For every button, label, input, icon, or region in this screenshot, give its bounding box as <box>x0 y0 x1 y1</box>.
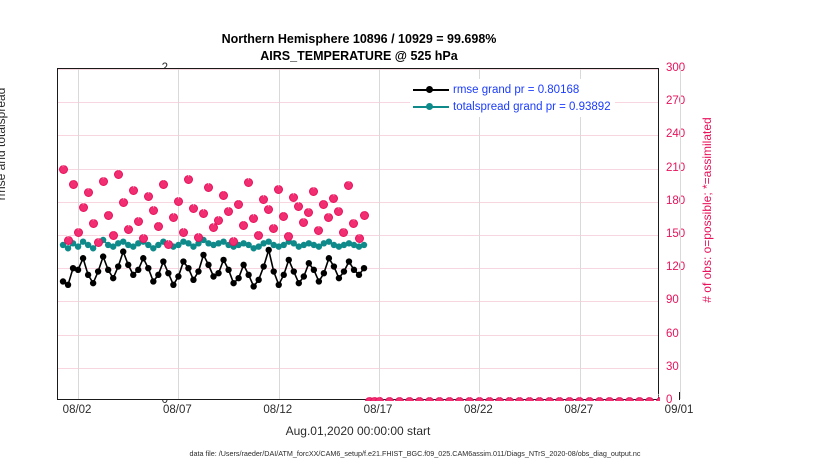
series-point <box>255 277 261 283</box>
obs-count-marker: * <box>585 397 594 402</box>
series-point <box>65 245 71 251</box>
legend: rmse grand pr = 0.80168 totalspread gran… <box>410 79 615 117</box>
obs-count-marker: * <box>229 237 238 246</box>
series-point <box>75 267 81 273</box>
obs-count-marker: * <box>174 197 183 206</box>
obs-count-marker: * <box>314 226 323 235</box>
obs-count-marker: * <box>465 397 474 402</box>
obs-count-marker: * <box>254 231 263 240</box>
obs-count-marker: * <box>194 233 203 242</box>
series-point <box>291 268 297 274</box>
obs-count-marker: * <box>104 211 113 220</box>
legend-swatch-rmse <box>413 84 449 96</box>
obs-count-marker: * <box>555 397 564 402</box>
obs-count-marker: * <box>239 221 248 230</box>
obs-count-marker: * <box>99 177 108 186</box>
series-point <box>155 272 161 278</box>
x-axis-tick-label: 08/07 <box>163 404 192 416</box>
obs-count-marker: * <box>535 397 544 402</box>
series-point <box>215 270 221 276</box>
obs-count-marker: * <box>169 213 178 222</box>
obs-count-marker: * <box>64 236 73 245</box>
obs-count-marker: * <box>405 397 414 402</box>
y-axis-right-tick-label: 300 <box>666 62 685 74</box>
obs-count-marker: * <box>355 234 364 243</box>
series-canvas: ****************************************… <box>58 69 660 401</box>
obs-count-marker: * <box>635 397 644 402</box>
series-point <box>316 278 322 284</box>
obs-count-marker: * <box>435 397 444 402</box>
obs-count-marker: * <box>545 397 554 402</box>
obs-count-marker: * <box>515 397 524 402</box>
obs-count-marker: * <box>154 222 163 231</box>
obs-count-marker: * <box>495 397 504 402</box>
obs-count-marker: * <box>284 232 293 241</box>
x-axis-tick-label: 08/02 <box>63 404 92 416</box>
series-point <box>195 268 201 274</box>
obs-count-marker: * <box>79 203 88 212</box>
series-point <box>311 267 317 273</box>
obs-count-marker: * <box>204 183 213 192</box>
obs-count-marker: * <box>455 397 464 402</box>
obs-count-marker: * <box>339 228 348 237</box>
x-axis-tick-label: 08/17 <box>364 404 393 416</box>
legend-label-totalspread: totalspread grand pr = 0.93892 <box>453 101 611 113</box>
obs-count-marker: * <box>334 207 343 216</box>
obs-count-marker: * <box>224 207 233 216</box>
series-point <box>281 272 287 278</box>
series-point <box>336 275 342 281</box>
gridline-vertical <box>680 69 681 399</box>
series-point <box>180 258 186 264</box>
obs-count-marker: * <box>656 397 661 402</box>
obs-count-marker: * <box>415 397 424 402</box>
series-point <box>90 280 96 286</box>
series-point <box>240 262 246 268</box>
y-axis-right-label: # of obs: o=possible; *=assimilated <box>700 45 714 375</box>
obs-count-marker: * <box>214 216 223 225</box>
series-point <box>125 262 131 268</box>
chart-title-line-2: AIRS_TEMPERATURE @ 525 hPa <box>0 48 718 65</box>
legend-item-totalspread: totalspread grand pr = 0.93892 <box>413 98 611 115</box>
chart-title-line-1: Northern Hemisphere 10896 / 10929 = 99.6… <box>0 31 718 48</box>
obs-count-marker: * <box>299 218 308 227</box>
series-point <box>135 267 141 273</box>
obs-count-marker: * <box>324 213 333 222</box>
series-point <box>160 258 166 264</box>
obs-count-marker: * <box>425 397 434 402</box>
legend-item-rmse: rmse grand pr = 0.80168 <box>413 81 611 98</box>
x-axis-label: Aug.01,2020 00:00:00 start <box>57 424 659 438</box>
series-point <box>185 265 191 271</box>
series-point <box>346 258 352 264</box>
y-axis-right-tick-label: 90 <box>666 294 679 306</box>
obs-count-marker: * <box>595 397 604 402</box>
series-point <box>220 257 226 263</box>
obs-count-marker: * <box>264 205 273 214</box>
obs-count-marker: * <box>124 225 133 234</box>
series-point <box>75 243 81 249</box>
series-point <box>110 275 116 281</box>
obs-count-marker: * <box>139 234 148 243</box>
obs-count-marker: * <box>144 192 153 201</box>
series-point <box>130 272 136 278</box>
obs-count-marker: * <box>485 397 494 402</box>
y-axis-right-tick-label: 150 <box>666 228 685 240</box>
series-point <box>296 280 302 286</box>
series-point <box>250 283 256 289</box>
obs-count-marker: * <box>84 188 93 197</box>
obs-count-marker: * <box>89 219 98 228</box>
obs-count-marker: * <box>179 228 188 237</box>
obs-count-marker: * <box>134 217 143 226</box>
obs-count-marker: * <box>74 228 83 237</box>
y-axis-left-label: rmse and totalspread <box>0 54 8 234</box>
plot-figure: Northern Hemisphere 10896 / 10929 = 99.6… <box>0 0 830 470</box>
data-file-footer: data file: /Users/raeder/DAI/ATM_forcXX/… <box>0 449 830 458</box>
y-axis-right-tick-label: 60 <box>666 328 679 340</box>
series-point <box>65 282 71 288</box>
obs-count-marker: * <box>645 397 654 402</box>
legend-label-rmse: rmse grand pr = 0.80168 <box>453 84 579 96</box>
obs-count-marker: * <box>244 178 253 187</box>
obs-count-marker: * <box>234 200 243 209</box>
obs-count-marker: * <box>525 397 534 402</box>
x-axis-tick-label: 08/22 <box>464 404 493 416</box>
obs-count-marker: * <box>575 397 584 402</box>
obs-count-marker: * <box>294 202 303 211</box>
obs-count-marker: * <box>385 397 394 402</box>
obs-count-marker: * <box>159 180 168 189</box>
obs-count-marker: * <box>94 238 103 247</box>
x-axis-tick-label: 08/27 <box>564 404 593 416</box>
obs-count-marker: * <box>344 181 353 190</box>
series-point <box>150 278 156 284</box>
obs-count-marker: * <box>605 397 614 402</box>
obs-count-marker: * <box>269 224 278 233</box>
obs-count-marker: * <box>349 219 358 228</box>
obs-count-marker: * <box>199 209 208 218</box>
y-axis-right-tick-label: 210 <box>666 162 685 174</box>
y-axis-right-tick-label: 240 <box>666 128 685 140</box>
x-axis-tick-label: 09/01 <box>665 404 694 416</box>
obs-count-marker: * <box>184 175 193 184</box>
obs-count-marker: * <box>129 186 138 195</box>
y-axis-right-tick-label: 180 <box>666 195 685 207</box>
series-point <box>235 275 241 281</box>
obs-count-marker: * <box>119 198 128 207</box>
y-axis-right-tick-label: 120 <box>666 261 685 273</box>
obs-count-marker: * <box>109 231 118 240</box>
obs-count-marker: * <box>164 240 173 249</box>
series-point <box>105 267 111 273</box>
series-point <box>306 260 312 266</box>
obs-count-marker: * <box>395 397 404 402</box>
series-point <box>266 247 272 253</box>
series-point <box>326 255 332 261</box>
series-point <box>341 268 347 274</box>
series-point <box>95 268 101 274</box>
obs-count-marker: * <box>304 208 313 217</box>
obs-count-marker: * <box>445 397 454 402</box>
series-point <box>361 265 367 271</box>
series-point <box>85 272 91 278</box>
series-point <box>190 277 196 283</box>
series-point <box>115 263 121 269</box>
plot-area: ****************************************… <box>57 68 659 400</box>
series-point <box>271 268 277 274</box>
series-point <box>321 270 327 276</box>
series-point <box>145 265 151 271</box>
series-point <box>205 262 211 268</box>
series-point <box>140 255 146 261</box>
obs-count-marker: * <box>309 187 318 196</box>
obs-count-marker: * <box>329 194 338 203</box>
series-point <box>245 272 251 278</box>
obs-count-marker: * <box>59 165 68 174</box>
obs-count-marker: * <box>565 397 574 402</box>
obs-count-marker: * <box>625 397 634 402</box>
series-point <box>351 267 357 273</box>
obs-count-marker: * <box>69 180 78 189</box>
obs-count-marker: * <box>274 185 283 194</box>
series-point <box>175 273 181 279</box>
series-point <box>170 282 176 288</box>
series-point <box>225 267 231 273</box>
series-point <box>276 282 282 288</box>
y-axis-right-tick-label: 270 <box>666 95 685 107</box>
legend-swatch-totalspread <box>413 101 449 113</box>
series-point <box>286 257 292 263</box>
obs-count-marker: * <box>189 204 198 213</box>
series-point <box>356 272 362 278</box>
obs-count-marker: * <box>360 211 369 220</box>
chart-title: Northern Hemisphere 10896 / 10929 = 99.6… <box>0 31 718 65</box>
obs-count-marker: * <box>219 191 228 200</box>
series-point <box>301 273 307 279</box>
obs-count-marker: * <box>375 397 384 402</box>
obs-count-marker: * <box>114 170 123 179</box>
x-axis-tick-label: 08/12 <box>263 404 292 416</box>
obs-count-marker: * <box>249 214 258 223</box>
obs-count-marker: * <box>149 206 158 215</box>
series-point <box>100 253 106 259</box>
obs-count-marker: * <box>475 397 484 402</box>
series-point <box>120 248 126 254</box>
series-point <box>230 280 236 286</box>
obs-count-marker: * <box>279 212 288 221</box>
obs-count-marker: * <box>505 397 514 402</box>
obs-count-marker: * <box>615 397 624 402</box>
series-point <box>165 270 171 276</box>
y-axis-right-tick-label: 30 <box>666 361 679 373</box>
series-point <box>80 255 86 261</box>
series-point <box>331 263 337 269</box>
series-point <box>200 252 206 258</box>
series-point <box>260 263 266 269</box>
obs-count-marker: * <box>319 200 328 209</box>
